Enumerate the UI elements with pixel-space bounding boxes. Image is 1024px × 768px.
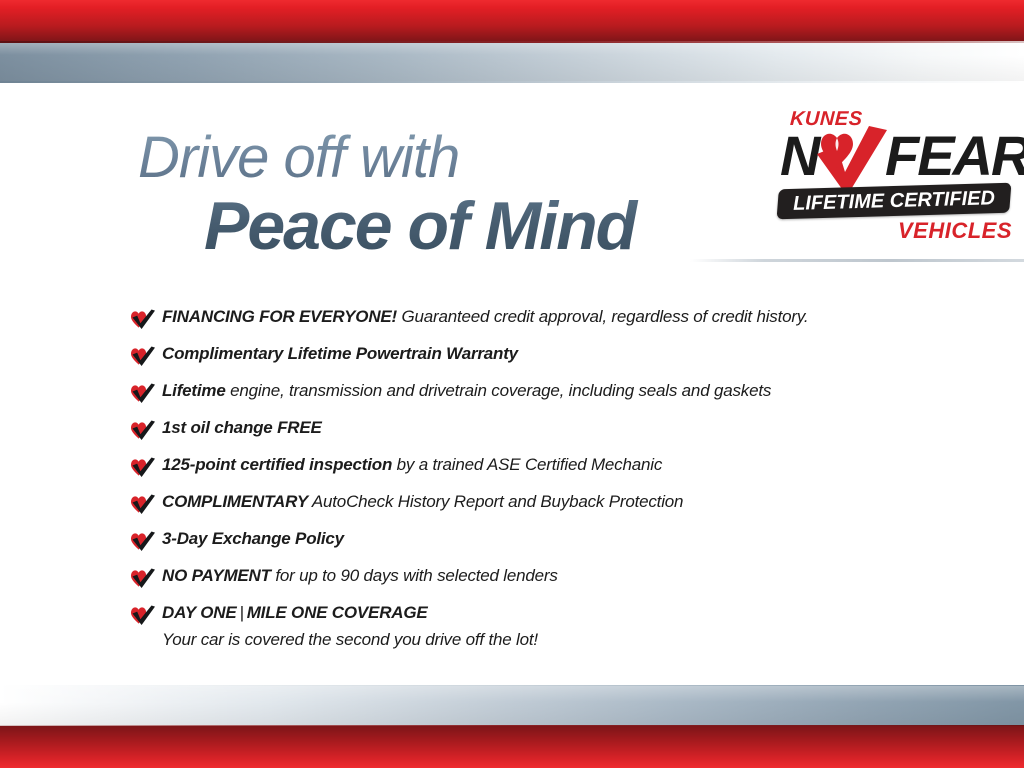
- headline-line-2: Peace of Mind: [204, 190, 738, 262]
- logo-no-fear-wordmark: N FEAR: [778, 128, 1014, 190]
- list-item-bold: 125-point certified inspection: [162, 455, 392, 474]
- list-item-text: 1st oil change FREE: [162, 417, 322, 439]
- list-item: FINANCING FOR EVERYONE! Guaranteed credi…: [130, 306, 930, 330]
- list-item-text: NO PAYMENT for up to 90 days with select…: [162, 565, 558, 587]
- list-item: DAY ONE|MILE ONE COVERAGE: [130, 602, 930, 626]
- list-item: Complimentary Lifetime Powertrain Warran…: [130, 343, 930, 367]
- list-item-bold: Lifetime: [162, 381, 226, 400]
- list-item-normal: AutoCheck History Report and Buyback Pro…: [308, 492, 683, 511]
- list-item: 125-point certified inspection by a trai…: [130, 454, 930, 478]
- check-heart-icon: [130, 530, 156, 552]
- check-heart-icon: [130, 382, 156, 404]
- list-item: 3-Day Exchange Policy: [130, 528, 930, 552]
- check-heart-icon: [130, 456, 156, 478]
- list-item-bold-b: MILE ONE COVERAGE: [247, 603, 428, 622]
- list-item-bold: FINANCING FOR EVERYONE!: [162, 307, 397, 326]
- list-item-text: Complimentary Lifetime Powertrain Warran…: [162, 343, 518, 365]
- list-item: NO PAYMENT for up to 90 days with select…: [130, 565, 930, 589]
- list-item-text: Lifetime engine, transmission and drivet…: [162, 380, 771, 402]
- list-item-subtext: Your car is covered the second you drive…: [162, 629, 930, 651]
- list-item-normal: engine, transmission and drivetrain cove…: [226, 381, 772, 400]
- list-item-bold: 1st oil change FREE: [162, 418, 322, 437]
- headline-divider-rule: [690, 259, 1024, 262]
- list-item-text: 3-Day Exchange Policy: [162, 528, 344, 550]
- kunes-no-fear-logo: KUNES N FEAR LIFETIME CERTIFIED VEHICLES: [778, 108, 1014, 248]
- headline-line-1: Drive off with: [138, 128, 738, 188]
- bottom-gray-banner-shading: [0, 686, 1024, 726]
- list-item: Lifetime engine, transmission and drivet…: [130, 380, 930, 404]
- check-heart-icon: [130, 308, 156, 330]
- list-item: COMPLIMENTARY AutoCheck History Report a…: [130, 491, 930, 515]
- check-heart-icon: [130, 419, 156, 441]
- check-heart-icon: [130, 567, 156, 589]
- list-item-text: DAY ONE|MILE ONE COVERAGE: [162, 602, 428, 624]
- list-item-bold: 3-Day Exchange Policy: [162, 529, 344, 548]
- top-gray-banner-shading: [0, 43, 1024, 83]
- logo-word-vehicles: VEHICLES: [898, 218, 1012, 244]
- check-heart-icon: [130, 345, 156, 367]
- benefits-list: FINANCING FOR EVERYONE! Guaranteed credi…: [130, 306, 930, 663]
- list-item-normal: by a trained ASE Certified Mechanic: [392, 455, 662, 474]
- list-item-bold-a: DAY ONE: [162, 603, 237, 622]
- logo-banner-label: LIFETIME CERTIFIED: [778, 183, 1011, 219]
- bottom-red-banner: [0, 726, 1024, 768]
- list-item-text: 125-point certified inspection by a trai…: [162, 454, 662, 476]
- list-item-normal: Guaranteed credit approval, regardless o…: [397, 307, 808, 326]
- top-red-banner: [0, 0, 1024, 42]
- promo-poster: Drive off with Peace of Mind KUNES N FEA…: [0, 0, 1024, 768]
- list-item-bold: COMPLIMENTARY: [162, 492, 308, 511]
- list-item-text: FINANCING FOR EVERYONE! Guaranteed credi…: [162, 306, 808, 328]
- list-item-bold: NO PAYMENT: [162, 566, 271, 585]
- check-heart-icon: [130, 493, 156, 515]
- list-item-text: COMPLIMENTARY AutoCheck History Report a…: [162, 491, 683, 513]
- headline-block: Drive off with Peace of Mind: [138, 128, 738, 262]
- list-item-bold: Complimentary Lifetime Powertrain Warran…: [162, 344, 518, 363]
- list-item-separator: |: [237, 603, 247, 622]
- logo-word-fear: FEAR: [885, 128, 1024, 184]
- list-item: 1st oil change FREE: [130, 417, 930, 441]
- top-gray-banner-edge: [0, 81, 1024, 83]
- check-heart-icon: [130, 604, 156, 626]
- list-item-normal: for up to 90 days with selected lenders: [271, 566, 558, 585]
